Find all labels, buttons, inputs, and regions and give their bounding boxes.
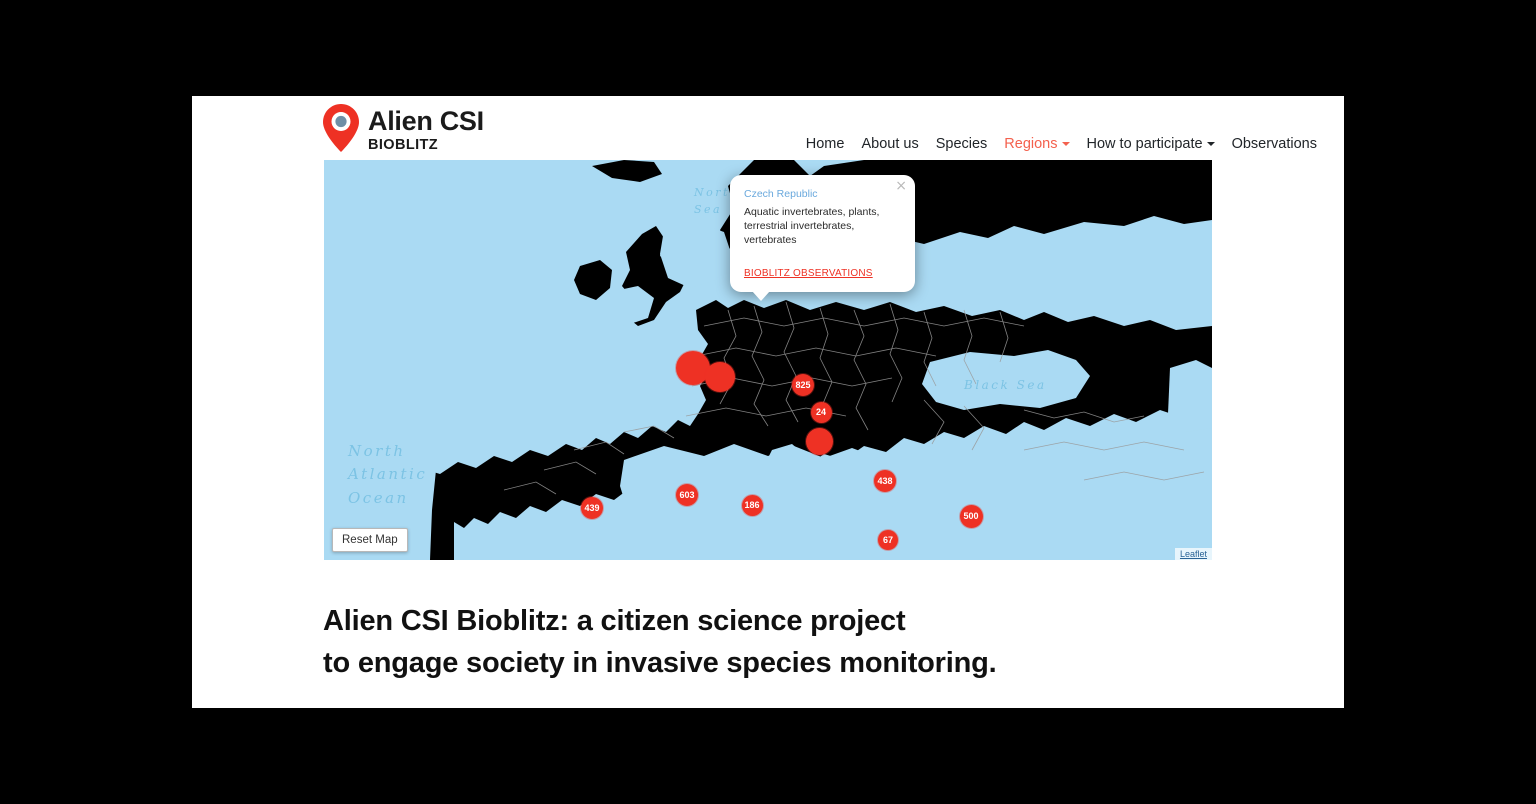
- popup-title: Czech Republic: [744, 188, 901, 201]
- brand-logo[interactable]: Alien CSI BIOBLITZ: [323, 104, 484, 154]
- nav-item-species[interactable]: Species: [936, 136, 988, 152]
- map-marker-bulgaria[interactable]: 438: [874, 470, 896, 492]
- map-marker-belgium-netherlands[interactable]: [705, 362, 735, 392]
- chevron-down-icon: [1207, 142, 1215, 146]
- headline-line-1: Alien CSI Bioblitz: a citizen science pr…: [323, 600, 1223, 642]
- popup-observations-link[interactable]: BIOBLITZ OBSERVATIONS: [744, 268, 873, 279]
- nav-item-about-us[interactable]: About us: [861, 136, 918, 152]
- main-navigation: HomeAbout usSpeciesRegionsHow to partici…: [806, 136, 1317, 152]
- map-marker-austria[interactable]: 24: [811, 402, 832, 423]
- nav-item-regions[interactable]: Regions: [1004, 136, 1069, 152]
- map-marker-czech-republic[interactable]: 825: [792, 374, 814, 396]
- popup-body: Aquatic invertebrates, plants, terrestri…: [744, 205, 901, 247]
- nav-item-how-to-participate[interactable]: How to participate: [1087, 136, 1215, 152]
- leaflet-attribution[interactable]: Leaflet: [1175, 548, 1212, 560]
- map-marker-portugal[interactable]: 439: [581, 497, 603, 519]
- reset-map-button[interactable]: Reset Map: [332, 528, 408, 552]
- popup-close-icon[interactable]: ×: [895, 179, 907, 193]
- page-headline: Alien CSI Bioblitz: a citizen science pr…: [323, 600, 1223, 684]
- map-marker-croatia[interactable]: [806, 428, 833, 455]
- map-pin-icon: [323, 104, 359, 152]
- nav-item-observations[interactable]: Observations: [1232, 136, 1317, 152]
- chevron-down-icon: [1062, 142, 1070, 146]
- headline-line-2: to engage society in invasive species mo…: [323, 642, 1223, 684]
- map-marker-greece[interactable]: 67: [878, 530, 898, 550]
- popup-tip: [752, 291, 770, 301]
- brand-subtitle: BIOBLITZ: [368, 137, 484, 154]
- site-header: Alien CSI BIOBLITZ HomeAbout usSpeciesRe…: [192, 96, 1344, 160]
- leaflet-map[interactable]: NorthAtlanticOcean NorthSea Black Sea 82…: [324, 160, 1212, 560]
- map-marker-italy[interactable]: 186: [742, 495, 763, 516]
- brand-title: Alien CSI: [368, 106, 484, 136]
- site-page: Alien CSI BIOBLITZ HomeAbout usSpeciesRe…: [192, 96, 1344, 708]
- map-marker-spain[interactable]: 603: [676, 484, 698, 506]
- map-marker-turkey[interactable]: 500: [960, 505, 983, 528]
- nav-item-home[interactable]: Home: [806, 136, 845, 152]
- map-popup[interactable]: × Czech Republic Aquatic invertebrates, …: [730, 175, 915, 292]
